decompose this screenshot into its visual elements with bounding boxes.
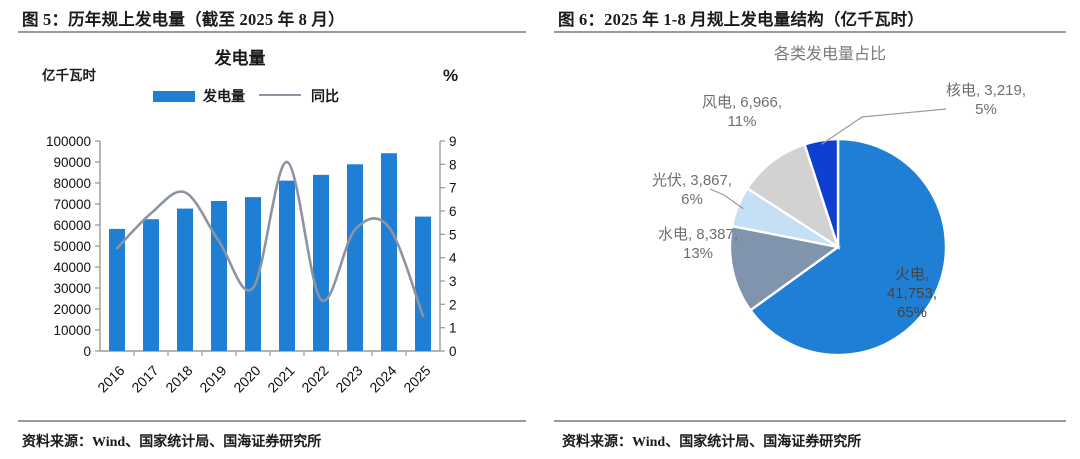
pie-label-fengdian: 风电, 6,966,11% (702, 94, 782, 130)
right-axis-tick-label: 8 (449, 157, 457, 172)
generation-mix-pie-chart: 各类发电量占比 火电,41,753,65%水电, 8,387,13%光伏, 3,… (540, 36, 1080, 416)
right-axis-tick-label: 1 (449, 321, 457, 336)
bar-column (347, 164, 363, 351)
x-axis-category-group: 2018 (162, 362, 195, 395)
bar-column (143, 219, 159, 351)
x-axis-category-group: 2022 (298, 362, 331, 395)
figure-6-bottom-rule (554, 420, 1066, 422)
chart-plot-svg: 0100002000030000400005000060000700008000… (0, 36, 540, 416)
right-axis-tick-label: 4 (449, 251, 457, 266)
left-axis-tick-label: 30000 (53, 281, 91, 296)
x-axis-category-group: 2023 (332, 362, 365, 395)
figure-5-top-rule (18, 31, 526, 33)
figure-6-panel: 图 6：2025 年 1-8 月规上发电量结构（亿千瓦时） 各类发电量占比 火电… (540, 0, 1080, 459)
bar-column (279, 181, 295, 351)
generation-combo-chart: 发电量 亿千瓦时 % 发电量 同比 0100002000030000400005… (0, 36, 540, 416)
x-axis-category-group: 2025 (400, 362, 433, 395)
x-axis-category-label: 2017 (128, 362, 161, 395)
x-axis-category-label: 2019 (196, 362, 229, 395)
x-axis-category-label: 2020 (230, 362, 263, 395)
pie-label-guangfu: 光伏, 3,867,6% (652, 172, 732, 208)
bar-column (313, 175, 329, 351)
left-axis-tick-label: 90000 (53, 155, 91, 170)
pie-label-hedian: 核电, 3,219,5% (946, 82, 1026, 118)
x-axis-category-group: 2020 (230, 362, 263, 395)
figure-6-source: 资料来源：Wind、国家统计局、国海证券研究所 (562, 431, 861, 451)
x-axis-category-label: 2018 (162, 362, 195, 395)
solar-leader-line (710, 189, 743, 209)
x-axis-category-label: 2024 (366, 362, 399, 395)
figure-6-top-rule (554, 31, 1066, 33)
bar-column (177, 209, 193, 351)
x-axis-category-group: 2017 (128, 362, 161, 395)
left-axis-tick-label: 10000 (53, 323, 91, 338)
bar-column (211, 201, 227, 351)
left-axis-tick-label: 100000 (46, 134, 91, 149)
x-axis-category-group: 2019 (196, 362, 229, 395)
pie-label-shuidian: 水电, 8,387,13% (658, 226, 738, 262)
x-axis-category-label: 2025 (400, 362, 433, 395)
left-axis-tick-label: 40000 (53, 260, 91, 275)
figure-6-title: 图 6：2025 年 1-8 月规上发电量结构（亿千瓦时） (540, 0, 1080, 30)
left-axis-tick-label: 80000 (53, 176, 91, 191)
right-axis-tick-label: 9 (449, 134, 457, 149)
yoy-line-series (117, 162, 423, 316)
left-axis-tick-label: 20000 (53, 302, 91, 317)
right-axis-tick-label: 5 (449, 227, 457, 242)
x-axis-category-label: 2023 (332, 362, 365, 395)
right-axis-tick-label: 7 (449, 181, 457, 196)
figure-5-source: 资料来源：Wind、国家统计局、国海证券研究所 (22, 431, 321, 451)
x-axis-category-label: 2022 (298, 362, 331, 395)
right-axis-tick-label: 0 (449, 344, 457, 359)
figure-5-title: 图 5：历年规上发电量（截至 2025 年 8 月） (0, 0, 540, 30)
left-axis-tick-label: 70000 (53, 197, 91, 212)
pie-plot-svg: 火电,41,753,65%水电, 8,387,13%光伏, 3,867,6%风电… (540, 36, 1080, 416)
x-axis-category-group: 2021 (264, 362, 297, 395)
figure-pair-page: 图 5：历年规上发电量（截至 2025 年 8 月） 发电量 亿千瓦时 % 发电… (0, 0, 1080, 459)
bar-column (415, 217, 431, 351)
x-axis-category-label: 2021 (264, 362, 297, 395)
left-axis-tick-label: 50000 (53, 239, 91, 254)
left-axis-tick-label: 0 (83, 344, 91, 359)
x-axis-category-label: 2016 (94, 362, 127, 395)
right-axis-tick-label: 2 (449, 297, 457, 312)
x-axis-category-group: 2024 (366, 362, 399, 395)
bar-column (381, 153, 397, 351)
figure-5-bottom-rule (18, 420, 526, 422)
figure-5-panel: 图 5：历年规上发电量（截至 2025 年 8 月） 发电量 亿千瓦时 % 发电… (0, 0, 540, 459)
right-axis-tick-label: 6 (449, 204, 457, 219)
right-axis-tick-label: 3 (449, 274, 457, 289)
left-axis-tick-label: 60000 (53, 218, 91, 233)
x-axis-category-group: 2016 (94, 362, 127, 395)
